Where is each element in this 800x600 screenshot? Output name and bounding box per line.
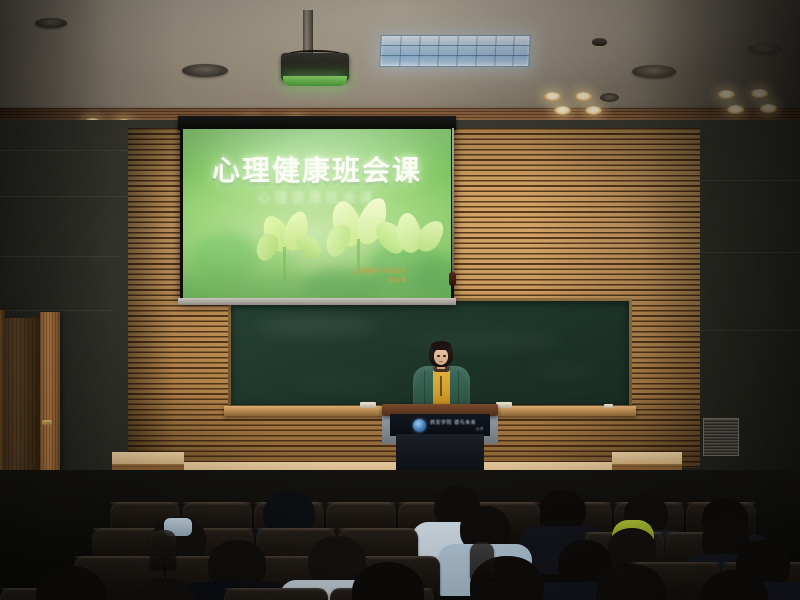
slide-credit-line-2: 班会课: [353, 276, 407, 285]
screen-pull-cord[interactable]: [452, 128, 454, 278]
door-handle-icon[interactable]: [42, 420, 52, 425]
wall-air-vent: [703, 418, 739, 456]
speaker-face: [434, 349, 448, 365]
school-emblem-icon: [413, 419, 426, 432]
slide-title: 心理健康班会课: [183, 149, 451, 189]
speaker-hoodie-cord: [440, 376, 442, 396]
speaker-bangs: [431, 341, 451, 350]
right-wall-seam-2: [700, 252, 800, 253]
wall-seam-4: [0, 310, 112, 311]
screen-pull-cord-handle[interactable]: [449, 272, 456, 286]
slide-credit-line-1: 心理健康 伴我成长: [353, 267, 407, 276]
speaker-jacket-seam-left: [424, 370, 425, 406]
right-wall-seam-1: [700, 180, 800, 181]
podium-plate-line-2: 大学: [430, 427, 488, 432]
projected-slide: 心理健康班会课 心理健康班会课 心理健康 伴我成长 班会课: [183, 129, 451, 299]
speaker-eye-right: [443, 355, 446, 357]
projection-screen: 心理健康班会课 心理健康班会课 心理健康 伴我成长 班会课: [180, 126, 454, 302]
seat[interactable]: [150, 530, 176, 570]
chalk-piece: [604, 404, 613, 408]
speaker-jacket-seam-right: [458, 370, 459, 406]
speaker-eye-left: [437, 355, 440, 357]
wall-seam-2: [0, 196, 132, 197]
right-wall-seam-3: [700, 330, 800, 331]
seat[interactable]: [224, 588, 328, 600]
chalkboard-eraser-right: [496, 402, 512, 408]
podium-plate-text: 西安学院 德与未来 大学: [430, 420, 488, 432]
projection-screen-weight-bar: [178, 298, 456, 305]
wall-seam-3: [0, 256, 120, 257]
slide-subtitle: 心理健康班会课: [183, 187, 451, 206]
slide-credit: 心理健康 伴我成长 班会课: [353, 267, 407, 285]
podium-body: [396, 434, 484, 474]
auditorium-photo: 心理健康班会课 心理健康班会课 心理健康 伴我成长 班会课: [0, 0, 800, 600]
chalkboard-eraser-left: [360, 402, 376, 408]
speaker-inner-top: [433, 368, 450, 406]
seated-audience: [0, 470, 800, 600]
stage-step-right: [612, 452, 682, 464]
seat[interactable]: [470, 542, 494, 580]
stage-step-left: [112, 452, 184, 464]
